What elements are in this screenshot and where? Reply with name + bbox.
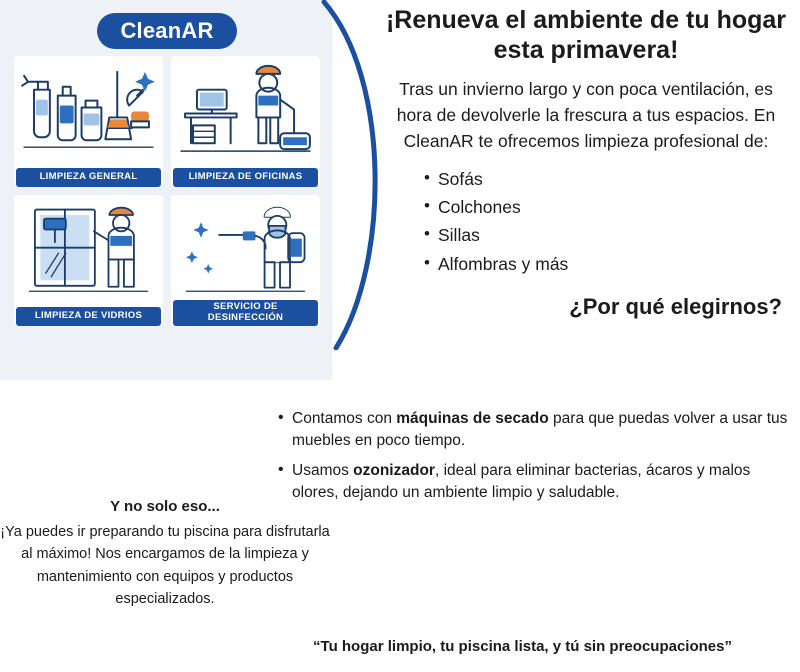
why-choose-us-list: Contamos con máquinas de secado para que… [276, 408, 792, 513]
list-item: Sillas [424, 221, 800, 249]
service-card-limpieza-de-vidrios[interactable]: LIMPIEZA DE VIDRIOS [14, 195, 163, 326]
page-title: ¡Renueva el ambiente de tu hogar esta pr… [372, 6, 800, 65]
service-caption: LIMPIEZA DE OFICINAS [173, 168, 318, 187]
list-item: Colchones [424, 193, 800, 221]
service-card-servicio-de-desinfeccion[interactable]: SERVICIO DE DESINFECCIÓN [171, 195, 320, 326]
why-bullet-bold: máquinas de secado [396, 410, 548, 427]
main-copy-column: ¡Renueva el ambiente de tu hogar esta pr… [372, 0, 800, 320]
cleaning-supplies-icon [14, 56, 163, 165]
brand-logo-label: CleanAR [120, 18, 213, 44]
services-grid: LIMPIEZA GENERAL [14, 56, 320, 326]
service-caption-line1: SERVICIO DE [213, 301, 277, 312]
services-panel: CleanAR [0, 0, 332, 380]
list-item: Usamos ozonizador, ideal para eliminar b… [276, 460, 792, 504]
why-bullet-bold: ozonizador [353, 462, 435, 479]
disinfection-sprayer-icon [171, 195, 320, 304]
service-card-limpieza-general[interactable]: LIMPIEZA GENERAL [14, 56, 163, 187]
pool-service-title: Y no solo eso... [0, 498, 330, 515]
why-bullet-pre: Contamos con [292, 410, 396, 427]
why-bullet-pre: Usamos [292, 462, 353, 479]
pool-service-body: ¡Ya puedes ir preparando tu piscina para… [0, 521, 330, 611]
service-list: Sofás Colchones Sillas Alfombras y más [372, 165, 800, 278]
window-squeegee-icon [14, 195, 163, 304]
office-vacuum-icon [171, 56, 320, 165]
footer-quote: “Tu hogar limpio, tu piscina lista, y tú… [250, 638, 795, 655]
why-choose-us-title: ¿Por qué elegirnos? [372, 294, 800, 320]
brand-logo: CleanAR [97, 13, 237, 49]
service-caption-line2: DESINFECCIÓN [208, 312, 283, 323]
list-item: Sofás [424, 165, 800, 193]
pool-service-block: Y no solo eso... ¡Ya puedes ir preparand… [0, 498, 330, 611]
service-caption: SERVICIO DE DESINFECCIÓN [173, 300, 318, 326]
infographic-page: CleanAR [0, 0, 800, 672]
service-card-limpieza-de-oficinas[interactable]: LIMPIEZA DE OFICINAS [171, 56, 320, 187]
intro-paragraph: Tras un invierno largo y con poca ventil… [372, 77, 800, 155]
service-caption: LIMPIEZA GENERAL [16, 168, 161, 187]
service-caption: LIMPIEZA DE VIDRIOS [16, 307, 161, 326]
list-item: Alfombras y más [424, 250, 800, 278]
list-item: Contamos con máquinas de secado para que… [276, 408, 792, 452]
